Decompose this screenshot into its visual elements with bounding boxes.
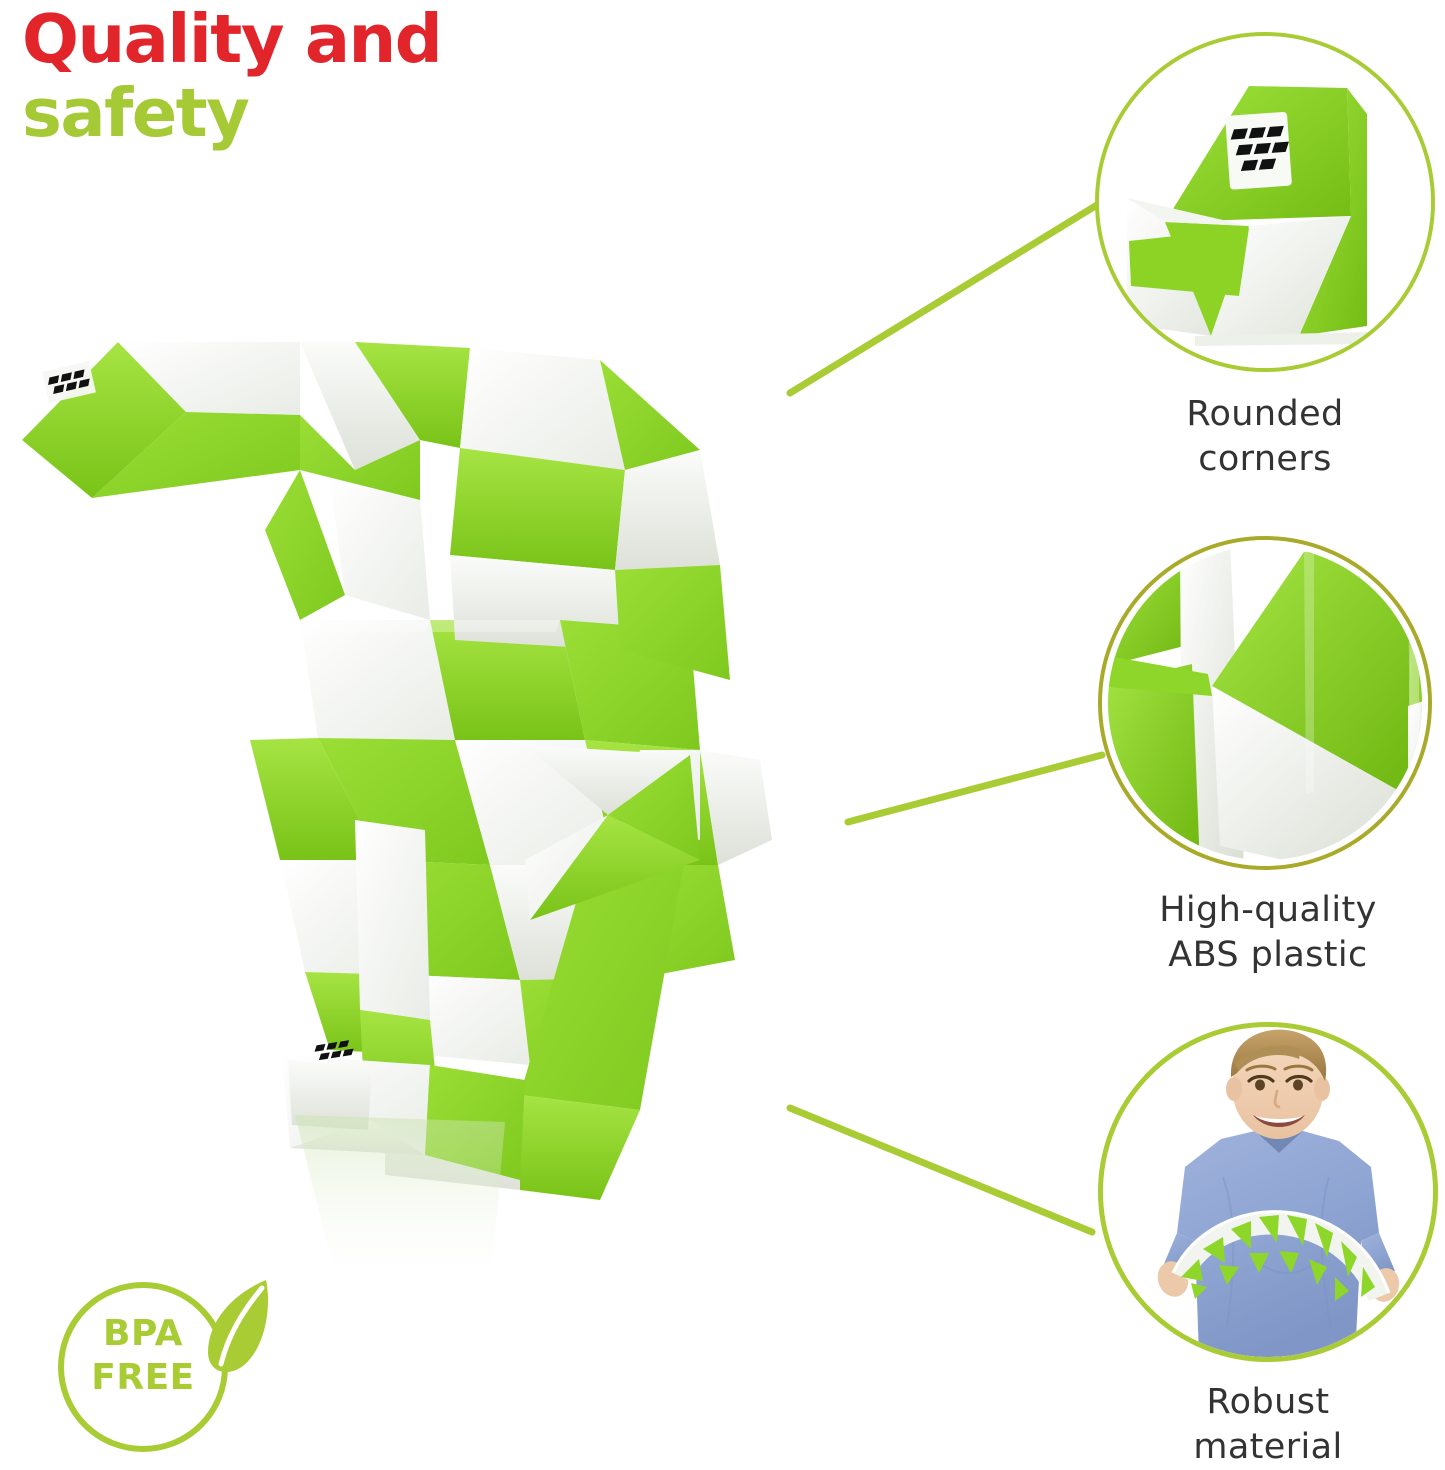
headline-line-2: safety: [22, 76, 642, 150]
callout-abs-plastic-image: [1098, 536, 1432, 870]
caption-line-2: corners: [1095, 437, 1435, 482]
connector-robust-material: [780, 1080, 1120, 1275]
bpa-free-badge: BPA FREE: [48, 1276, 288, 1458]
infographic-canvas: Quality and safety: [0, 0, 1445, 1462]
caption-line-1: Rounded: [1095, 392, 1435, 437]
caption-line-2: material: [1098, 1425, 1438, 1470]
connector-abs-plastic: [840, 725, 1140, 860]
segment-head: [22, 342, 300, 498]
callout-robust-material: Robust material: [1098, 1022, 1445, 1462]
badge-line-1: BPA: [58, 1312, 228, 1356]
callout-rounded-corners-image: [1095, 32, 1435, 372]
callout-rounded-corners-caption: Rounded corners: [1095, 392, 1435, 482]
segment-neck-upper: [300, 342, 470, 500]
segment-wing-top: [450, 348, 720, 570]
page-title: Quality and safety: [22, 2, 642, 150]
caption-line-1: Robust: [1098, 1380, 1438, 1425]
segment-foot-tip: [288, 1040, 372, 1130]
caption-line-1: High-quality: [1093, 888, 1443, 933]
connector-rounded-corners: [780, 175, 1130, 430]
callout-rounded-corners: Rounded corners: [1095, 32, 1445, 492]
callout-abs-plastic: High-quality ABS plastic: [1098, 536, 1445, 996]
caption-line-2: ABS plastic: [1093, 933, 1443, 978]
badge-line-2: FREE: [58, 1356, 228, 1400]
callout-abs-plastic-caption: High-quality ABS plastic: [1093, 888, 1443, 978]
badge-text: BPA FREE: [58, 1312, 228, 1400]
callout-brand-sticker: [1225, 112, 1292, 190]
headline-line-1: Quality and: [22, 2, 642, 76]
callout-robust-material-image: [1098, 1022, 1438, 1362]
snake-puzzle-illustration: [0, 320, 830, 1220]
product-image: [0, 320, 830, 1220]
callout-robust-material-caption: Robust material: [1098, 1380, 1438, 1470]
